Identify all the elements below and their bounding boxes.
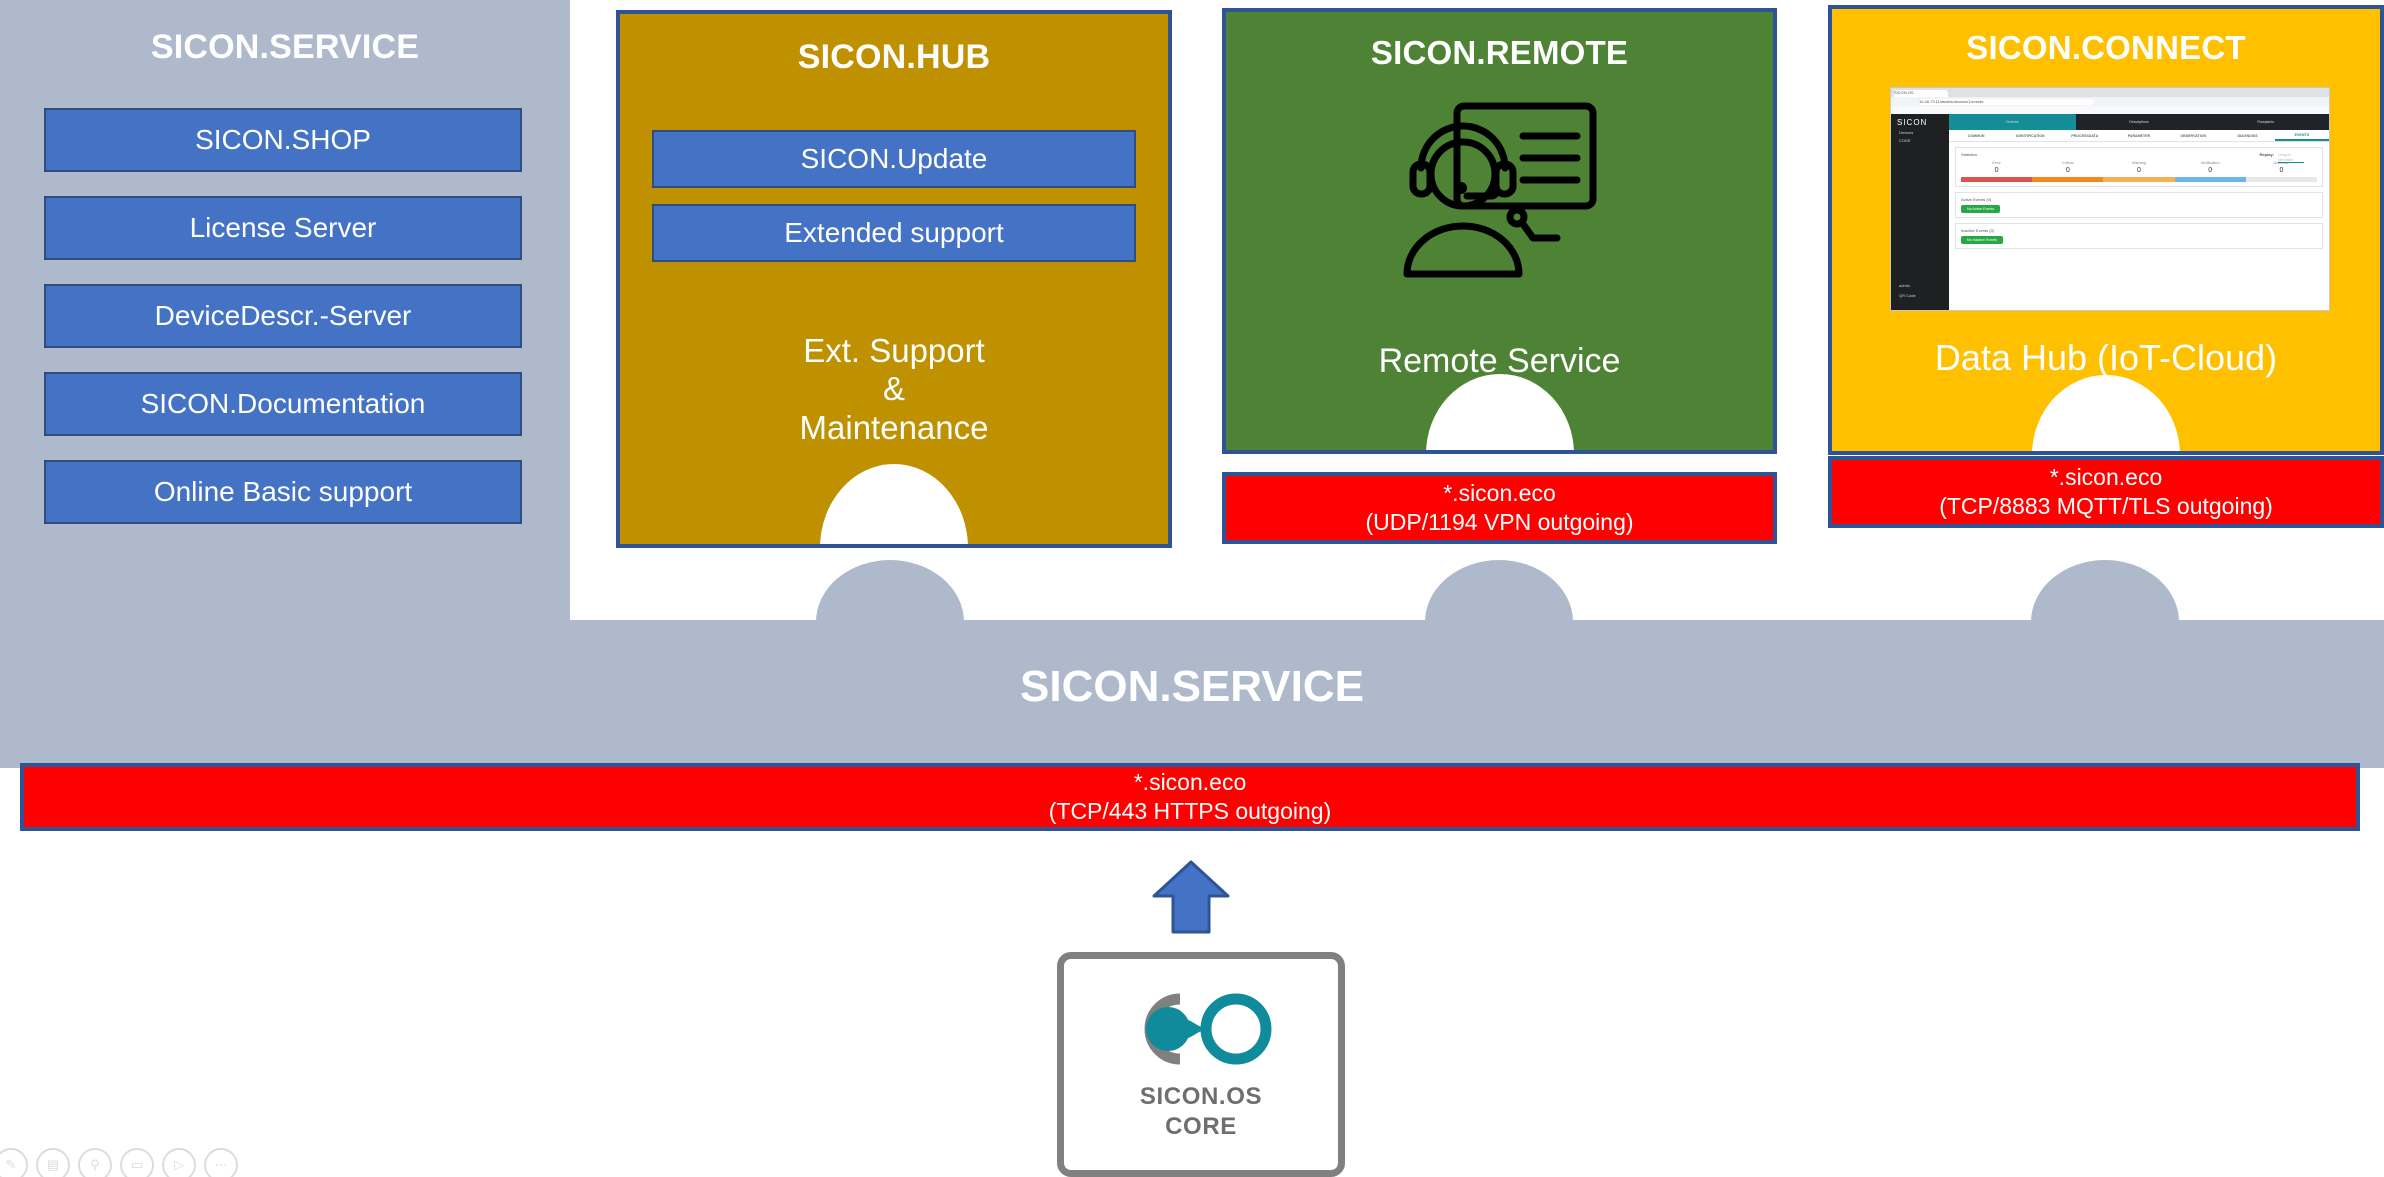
connect-banner-line-1: *.sicon.eco — [2050, 463, 2163, 492]
active-events-title: Active Events (0) — [1961, 197, 2317, 202]
dashboard-sidebar: SICON Devices CODE admin QR Code — [1891, 114, 1949, 310]
hub-panel-caption: Ext. Support & Maintenance — [620, 332, 1168, 447]
connect-connector-bump — [2031, 560, 2179, 622]
hub-caption-line-3: Maintenance — [620, 409, 1168, 447]
remote-connector-bump — [1425, 560, 1573, 622]
remote-panel: SICON.REMOTE — [1222, 8, 1777, 454]
browser-tab[interactable]: SICON.OS — [1894, 90, 1948, 97]
replay-input[interactable]: Unique Identifier — [2278, 152, 2304, 163]
hub-panel: SICON.HUB SICON.Update Extended support … — [616, 10, 1172, 548]
service-banner-line-1: *.sicon.eco — [1134, 768, 1247, 797]
browser-chrome: SICON.OS — [1891, 88, 2329, 97]
bookmarks-bar — [1891, 106, 2329, 114]
dashboard-logo: SICON — [1891, 114, 1949, 127]
service-port-banner: *.sicon.eco (TCP/443 HTTPS outgoing) — [20, 763, 2360, 831]
sicon-infinity-logo — [1106, 979, 1296, 1084]
hub-item-sicon-update[interactable]: SICON.Update — [652, 130, 1136, 188]
layout-icon[interactable]: ▤ — [36, 1148, 70, 1177]
connect-panel-title: SICON.CONNECT — [1832, 29, 2380, 67]
headset-support-monitor-icon — [1395, 92, 1605, 282]
connect-connector-notch — [2032, 375, 2180, 455]
sidebar-item-code[interactable]: CODE — [1891, 135, 1949, 143]
bar-warning — [2103, 177, 2174, 182]
tab-identification[interactable]: IDENTIFICATION — [2003, 130, 2057, 141]
connect-port-banner: *.sicon.eco (TCP/8883 MQTT/TLS outgoing) — [1828, 456, 2384, 528]
stat-warning: Warning 0 — [2103, 161, 2174, 174]
connect-panel: SICON.CONNECT SICON.OS 10.48.73.11/asset… — [1828, 5, 2384, 455]
tab-diagnosis[interactable]: DIAGNOSIS — [2220, 130, 2274, 141]
url-input[interactable]: 10.48.73.11/assets/devices/1/events — [1919, 99, 2094, 105]
dashboard-body: SICON Devices CODE admin QR Code Devices… — [1891, 114, 2329, 310]
active-events-card: Active Events (0) No Active Events — [1955, 192, 2323, 218]
dashboard-top-nav: Devices Descriptions Flowplants — [1949, 114, 2329, 130]
bar-unknown — [2246, 177, 2317, 182]
camera-off-icon[interactable]: ▷ — [162, 1148, 196, 1177]
tab-events[interactable]: EVENTS — [2275, 130, 2329, 141]
inactive-events-badge: No Inactive Events — [1961, 236, 2003, 244]
topnav-descriptions[interactable]: Descriptions — [2076, 114, 2203, 130]
service-column: SICON.SERVICE SICON.SHOP License Server … — [0, 0, 570, 620]
statistics-bar — [1961, 177, 2317, 182]
dashboard-main: Devices Descriptions Flowplants COMMON I… — [1949, 114, 2329, 310]
sicon-os-core-card: SICON.OS CORE — [1057, 952, 1345, 1177]
service-item-sicon-shop[interactable]: SICON.SHOP — [44, 108, 522, 172]
statistics-card: Statistics Replay: Unique Identifier Err… — [1955, 147, 2323, 187]
stat-error: Error 0 — [1961, 161, 2032, 174]
stat-critical: Critical 0 — [2032, 161, 2103, 174]
os-core-line-1: SICON.OS — [1064, 1083, 1338, 1111]
bar-critical — [2032, 177, 2103, 182]
hub-panel-title: SICON.HUB — [620, 38, 1168, 77]
statistics-title: Statistics — [1961, 152, 1977, 157]
hub-connector-notch — [820, 464, 968, 548]
os-core-line-2: CORE — [1064, 1113, 1338, 1141]
inactive-events-card: Inactive Events (0) No Inactive Events — [1955, 223, 2323, 249]
bar-notification — [2175, 177, 2246, 182]
remote-banner-line-1: *.sicon.eco — [1443, 479, 1556, 508]
remote-panel-title: SICON.REMOTE — [1226, 34, 1773, 72]
remote-connector-notch — [1426, 374, 1574, 454]
hub-caption-line-2: & — [620, 370, 1168, 408]
remote-port-banner: *.sicon.eco (UDP/1194 VPN outgoing) — [1222, 472, 1777, 544]
hub-item-extended-support[interactable]: Extended support — [652, 204, 1136, 262]
bar-error — [1961, 177, 2032, 182]
service-bar: SICON.SERVICE — [0, 620, 2384, 768]
service-item-device-descr-server[interactable]: DeviceDescr.-Server — [44, 284, 522, 348]
browser-url-bar: 10.48.73.11/assets/devices/1/events — [1891, 97, 2329, 106]
more-options-icon[interactable]: ⋯ — [204, 1148, 238, 1177]
tab-common[interactable]: COMMON — [1949, 130, 2003, 141]
inactive-events-title: Inactive Events (0) — [1961, 228, 2317, 233]
sidebar-user[interactable]: admin — [1891, 280, 1910, 288]
remote-banner-line-2: (UDP/1194 VPN outgoing) — [1365, 508, 1633, 537]
topnav-flowplants[interactable]: Flowplants — [2202, 114, 2329, 130]
sidebar-item-devices[interactable]: Devices — [1891, 127, 1949, 135]
active-events-badge: No Active Events — [1961, 205, 2000, 213]
presentation-icon[interactable]: ▭ — [120, 1148, 154, 1177]
mini-toolbar: ✎ ▤ ⚲ ▭ ▷ ⋯ — [0, 1148, 238, 1177]
tab-parameter[interactable]: PARAMETER — [2112, 130, 2166, 141]
sidebar-qr-code[interactable]: QR Code — [1891, 290, 1916, 298]
service-bar-title: SICON.SERVICE — [0, 662, 2384, 712]
topnav-devices[interactable]: Devices — [1949, 114, 2076, 130]
service-item-online-basic-support[interactable]: Online Basic support — [44, 460, 522, 524]
service-item-license-server[interactable]: License Server — [44, 196, 522, 260]
upward-arrow-icon — [1152, 860, 1230, 934]
service-column-title: SICON.SERVICE — [0, 28, 570, 67]
hub-caption-line-1: Ext. Support — [620, 332, 1168, 370]
search-icon[interactable]: ⚲ — [78, 1148, 112, 1177]
statistics-row: Error 0 Critical 0 Warning 0 — [1961, 161, 2317, 174]
connect-panel-caption: Data Hub (IoT-Cloud) — [1832, 337, 2380, 379]
service-banner-line-2: (TCP/443 HTTPS outgoing) — [1049, 797, 1332, 826]
pen-icon[interactable]: ✎ — [0, 1148, 28, 1177]
replay-label: Replay: — [2260, 152, 2274, 157]
dashboard-tabs: COMMON IDENTIFICATION PROCESSDATA PARAME… — [1949, 130, 2329, 142]
tab-observation[interactable]: OBSERVATION — [2166, 130, 2220, 141]
diagram-canvas: SICON.SERVICE SICON.SHOP License Server … — [0, 0, 2384, 1177]
tab-processdata[interactable]: PROCESSDATA — [2058, 130, 2112, 141]
stat-notification: Notification 0 — [2175, 161, 2246, 174]
dashboard-screenshot: SICON.OS 10.48.73.11/assets/devices/1/ev… — [1890, 87, 2330, 311]
service-item-sicon-documentation[interactable]: SICON.Documentation — [44, 372, 522, 436]
connect-banner-line-2: (TCP/8883 MQTT/TLS outgoing) — [1939, 492, 2273, 521]
